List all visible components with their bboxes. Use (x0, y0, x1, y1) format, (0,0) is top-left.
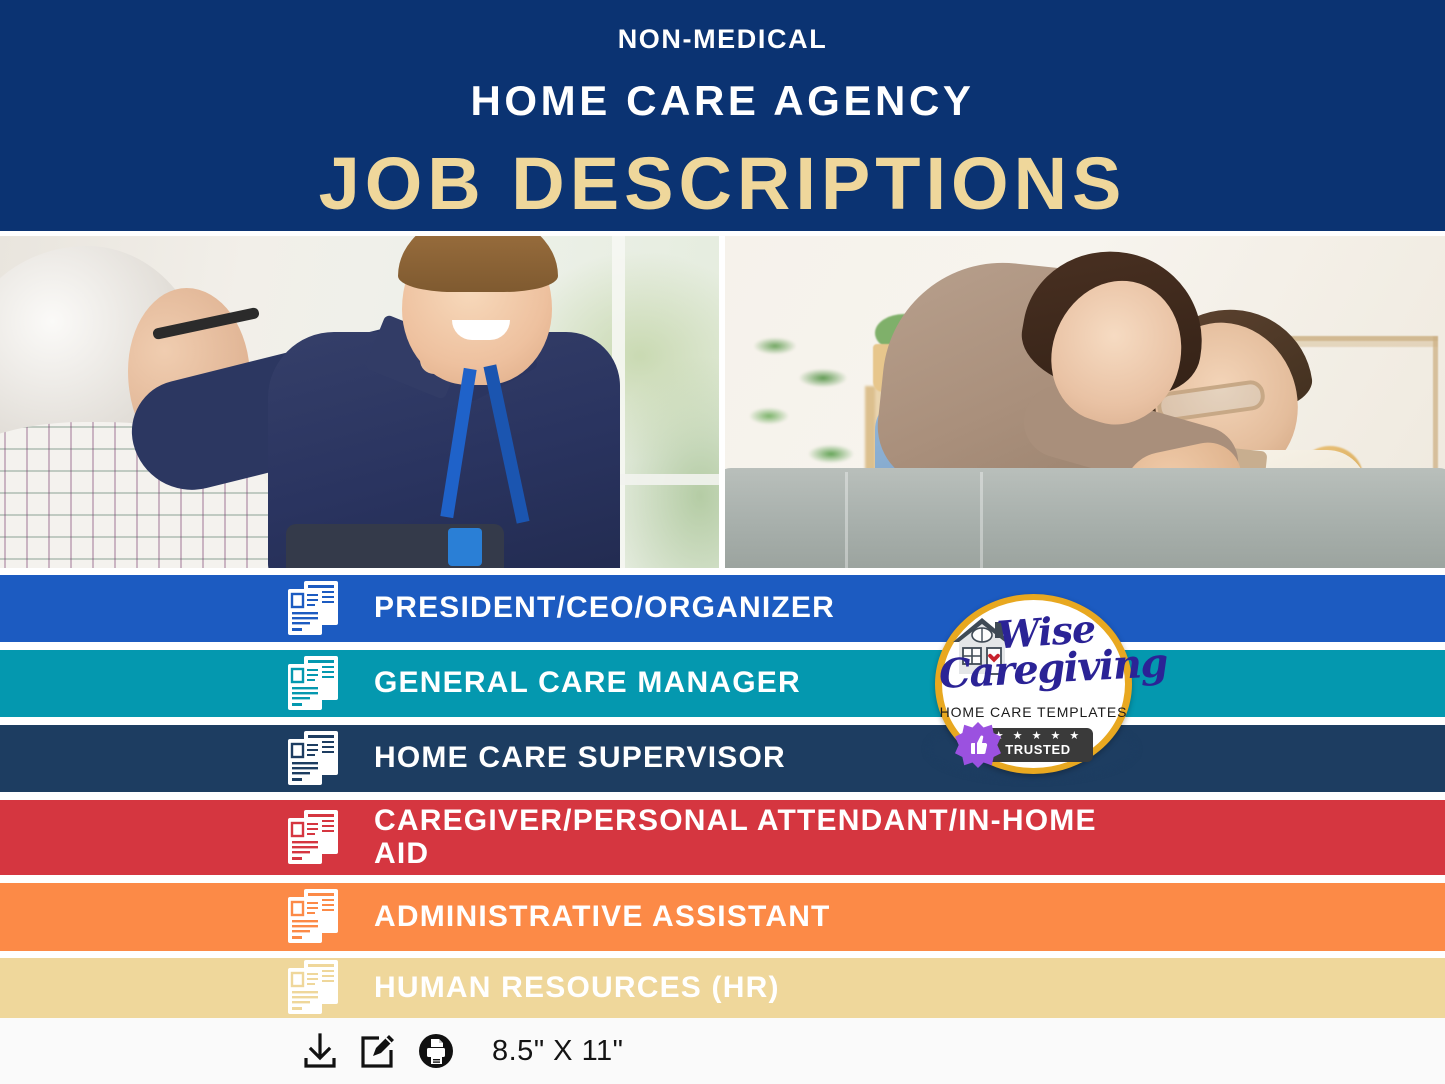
edit-icon[interactable] (358, 1031, 398, 1071)
role-label: PRESIDENT/CEO/ORGANIZER (374, 592, 835, 624)
role-label: CAREGIVER/PERSONAL ATTENDANT/IN-HOME AID (374, 805, 1104, 870)
logo-tagline: HOME CARE TEMPLATES (935, 704, 1132, 720)
photo-caregiver-with-elderly-man (0, 236, 719, 568)
logo-word-caregiving: Caregiving (938, 645, 1132, 695)
brand-logo-wise-caregiving[interactable]: Wise Caregiving HOME CARE TEMPLATES ★ ★ … (935, 594, 1132, 774)
photo-woman-hugging-senior (725, 236, 1445, 568)
role-label: HUMAN RESOURCES (HR) (374, 972, 780, 1004)
header-eyebrow: NON-MEDICAL (618, 26, 828, 53)
document-stack-icon (284, 654, 348, 714)
page-size-label: 8.5" X 11" (492, 1035, 623, 1068)
document-stack-icon (284, 579, 348, 639)
document-stack-icon (284, 729, 348, 789)
document-stack-icon (284, 887, 348, 947)
photo-strip (0, 236, 1445, 568)
document-stack-icon (284, 808, 348, 868)
footer-bar: 8.5" X 11" (0, 1018, 1445, 1084)
header-subtitle: HOME CARE AGENCY (470, 80, 974, 122)
document-stack-icon (284, 958, 348, 1018)
role-label: HOME CARE SUPERVISOR (374, 742, 786, 774)
role-label: ADMINISTRATIVE ASSISTANT (374, 901, 831, 933)
page-title: JOB DESCRIPTIONS (319, 147, 1127, 221)
role-bar-administrative-assistant[interactable]: ADMINISTRATIVE ASSISTANT (0, 883, 1445, 951)
role-bar-general-care-manager[interactable]: GENERAL CARE MANAGER (0, 650, 1445, 717)
download-icon[interactable] (300, 1031, 340, 1071)
trusted-label: TRUSTED (1005, 742, 1071, 758)
poster-header: NON-MEDICAL HOME CARE AGENCY JOB DESCRIP… (0, 0, 1445, 231)
role-label: GENERAL CARE MANAGER (374, 667, 801, 699)
poster-canvas: NON-MEDICAL HOME CARE AGENCY JOB DESCRIP… (0, 0, 1445, 1084)
role-bar-president-ceo-organizer[interactable]: PRESIDENT/CEO/ORGANIZER (0, 575, 1445, 642)
role-bar-home-care-supervisor[interactable]: HOME CARE SUPERVISOR (0, 725, 1445, 792)
role-bar-caregiver-personal-attendant[interactable]: CAREGIVER/PERSONAL ATTENDANT/IN-HOME AID (0, 800, 1445, 875)
trusted-badge: ★ ★ ★ ★ ★ TRUSTED (983, 728, 1093, 762)
rating-stars: ★ ★ ★ ★ ★ (994, 731, 1083, 742)
print-icon[interactable] (416, 1031, 456, 1071)
role-bar-human-resources[interactable]: HUMAN RESOURCES (HR) (0, 958, 1445, 1018)
